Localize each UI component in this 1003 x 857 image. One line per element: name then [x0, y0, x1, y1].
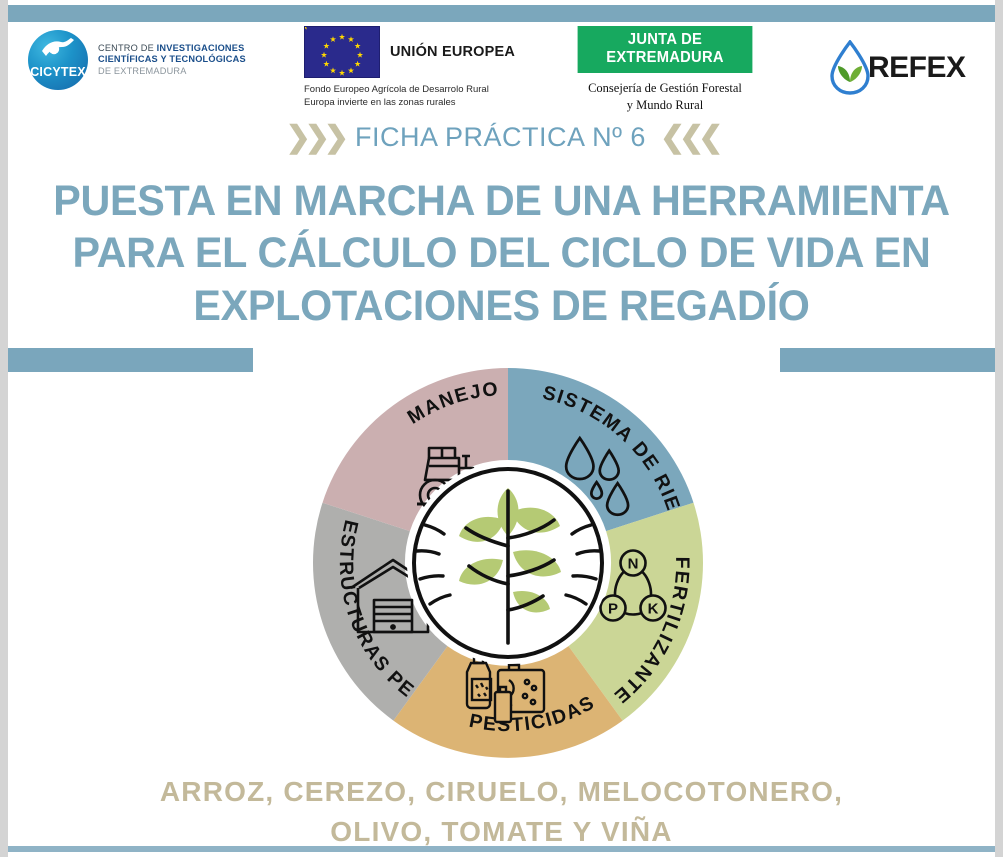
cicytex-line-3: DE EXTREMADURA	[98, 66, 246, 77]
npk-p-label: P	[608, 601, 618, 618]
page-title-line-3: EXPLOTACIONES DE REGADÍO	[28, 280, 976, 332]
accent-band-right	[780, 348, 995, 372]
junta-subtitle: Consejería de Gestión Forestal y Mundo R…	[570, 80, 760, 113]
logo-refex: REFEX	[826, 40, 966, 96]
eu-subtitle: Fondo Europeo Agrícola de Desarrolo Rura…	[304, 84, 515, 110]
logo-junta-extremadura: JUNTA DE EXTREMADURA Consejería de Gesti…	[570, 26, 760, 113]
eu-subtitle-line-2: Europa invierte en las zonas rurales	[304, 97, 515, 110]
logo-union-europea: UNIÓN EUROPEA Fondo Europeo Agrícola de …	[304, 26, 515, 110]
junta-title-box: JUNTA DE EXTREMADURA	[578, 26, 753, 73]
cicytex-glyph-icon	[41, 37, 75, 57]
ficha-practica-heading: ❯❯❯FICHA PRÁCTICA Nº 6❮❮❮	[8, 120, 995, 155]
cicytex-mark-icon: CICYTEX	[28, 30, 88, 90]
poster-page: CICYTEX CENTRO DE INVESTIGACIONES CIENTÍ…	[8, 0, 995, 857]
eu-subtitle-line-1: Fondo Europeo Agrícola de Desarrolo Rura…	[304, 84, 515, 97]
center-emblem	[407, 462, 609, 664]
top-accent-band	[8, 5, 995, 22]
donut-svg: SISTEMA DE RIEGO FERTILIZANTE PESTICIDAS…	[305, 360, 711, 766]
eu-title: UNIÓN EUROPEA	[390, 44, 515, 60]
cicytex-tagline: CENTRO DE INVESTIGACIONES CIENTÍFICAS Y …	[98, 43, 246, 77]
chevron-right-triple-icon: ❯❯❯	[286, 121, 343, 154]
ficha-label: FICHA PRÁCTICA Nº 6	[355, 122, 646, 152]
crops-list: ARROZ, CEREZO, CIRUELO, MELOCOTONERO, OL…	[8, 772, 995, 852]
page-title-line-2: PARA EL CÁLCULO DEL CICLO DE VIDA EN	[28, 227, 976, 279]
logo-row: CICYTEX CENTRO DE INVESTIGACIONES CIENTÍ…	[8, 22, 995, 116]
cicytex-line-1-bold: INVESTIGACIONES	[157, 43, 245, 53]
cicytex-line-2-bold: CIENTÍFICAS Y TECNOLÓGICAS	[98, 54, 246, 64]
crops-line-1: ARROZ, CEREZO, CIRUELO, MELOCOTONERO,	[8, 772, 995, 812]
junta-subtitle-line-1: Consejería de Gestión Forestal	[570, 80, 760, 97]
refex-waterdrop-icon	[826, 40, 874, 96]
cicytex-line-1-plain: CENTRO DE	[98, 43, 157, 53]
page-title-line-1: PUESTA EN MARCHA DE UNA HERRAMIENTA	[28, 175, 976, 227]
cicytex-line-1: CENTRO DE INVESTIGACIONES	[98, 43, 246, 54]
lifecycle-donut-chart: SISTEMA DE RIEGO FERTILIZANTE PESTICIDAS…	[305, 360, 711, 766]
cicytex-line-2: CIENTÍFICAS Y TECNOLÓGICAS	[98, 54, 246, 65]
cicytex-wordmark: CICYTEX	[28, 65, 88, 79]
page-title: PUESTA EN MARCHA DE UNA HERRAMIENTA PARA…	[28, 175, 976, 332]
npk-k-label: K	[648, 601, 659, 618]
refex-wordmark: REFEX	[868, 51, 966, 85]
chevron-left-triple-icon: ❮❮❮	[660, 121, 717, 154]
npk-n-label: N	[628, 556, 639, 573]
logo-cicytex: CICYTEX CENTRO DE INVESTIGACIONES CIENTÍ…	[28, 30, 246, 90]
eu-flag-icon	[304, 26, 380, 78]
accent-band-left	[8, 348, 253, 372]
eu-stars-icon	[305, 27, 379, 77]
junta-subtitle-line-2: y Mundo Rural	[570, 97, 760, 114]
crops-line-2: OLIVO, TOMATE Y VIÑA	[8, 812, 995, 852]
